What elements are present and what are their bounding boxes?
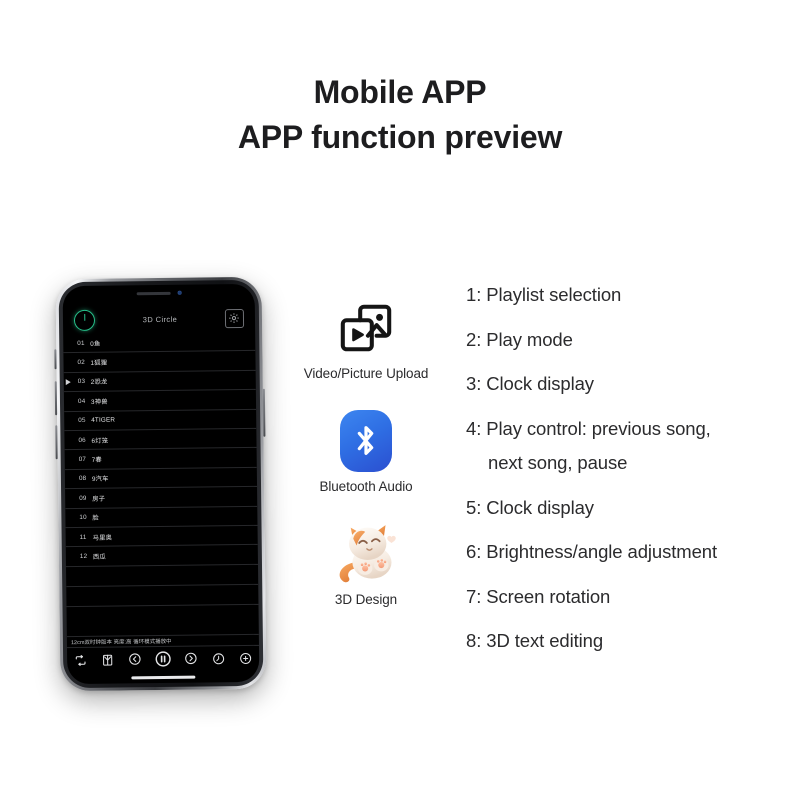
function-list-item: 7: Screen rotation [466,588,796,607]
repeat-icon[interactable] [74,653,87,666]
playlist-row-index: 03 [78,378,91,385]
function-list-item-continuation: next song, pause [466,454,796,473]
playlist-row[interactable]: 021狐狸 [63,351,255,373]
clock-icon[interactable] [212,652,225,665]
playlist-empty-row [66,565,258,588]
screen-rotate-icon[interactable] [101,653,114,666]
playlist-row-index: 05 [78,417,91,424]
playlist-row[interactable]: 11马里奥 [66,526,258,548]
playlist-row[interactable]: 12西瓜 [66,545,258,567]
playlist-row-name: 西瓜 [93,552,106,561]
phone-mute-switch[interactable] [54,349,56,369]
playlist-row-index: 10 [79,514,92,521]
playlist-row-index: 08 [79,475,92,482]
playlist-row-index: 06 [78,436,91,443]
playlist-row[interactable]: 043神兽 [64,390,256,412]
function-list-item: 4: Play control: previous song,next song… [466,420,796,473]
player-control-bar[interactable] [67,646,259,672]
function-list-item: 5: Clock display [466,499,796,518]
function-list-item: 6: Brightness/angle adjustment [466,543,796,562]
function-list-item-text: 1: Playlist selection [466,284,621,305]
playlist-row-name: 2恐龙 [91,377,108,386]
phone-mockup: 3D Circle 010鱼021狐狸032恐龙043神兽054TIGER066… [55,277,266,691]
function-list-item-text: 8: 3D text editing [466,630,603,651]
playlist-row-index: 02 [77,359,90,366]
feature-label: Bluetooth Audio [286,479,446,494]
phone-notch [63,290,255,296]
app-title: 3D Circle [143,314,178,323]
previous-icon[interactable] [128,652,142,666]
power-icon[interactable] [74,309,95,330]
title-line-1: Mobile APP [0,72,800,113]
playlist-row-name: 房子 [92,493,105,502]
app-header: 3D Circle [63,302,255,336]
playlist-row-index: 04 [78,398,91,405]
playlist-row-name: 9汽车 [92,474,109,483]
feature-video-picture-upload: Video/Picture Upload [286,292,446,381]
playlist-row-index: 11 [80,533,93,540]
function-list-item: 3: Clock display [466,375,796,394]
function-list-item-text: 3: Clock display [466,373,594,394]
playlist-row-index: 09 [79,495,92,502]
phone-volume-down-button[interactable] [55,425,57,459]
playlist-row-name: 7春 [92,455,102,464]
phone-volume-up-button[interactable] [55,381,57,415]
playlist-row-name: 马里奥 [93,532,113,541]
playlist-row-name: 6灯笼 [91,435,108,444]
bluetooth-icon [286,405,446,477]
playlist-row[interactable]: 066灯笼 [64,429,256,451]
playlist-empty-row [66,585,258,608]
feature-bluetooth-audio: Bluetooth Audio [286,405,446,494]
add-icon[interactable] [239,651,252,664]
function-list-item-text: 7: Screen rotation [466,586,610,607]
function-list-item-text: 5: Clock display [466,497,594,518]
front-camera-icon [177,291,181,295]
home-indicator [131,676,195,680]
playlist-row[interactable]: 09房子 [65,487,257,509]
feature-label: 3D Design [286,592,446,607]
pause-icon[interactable] [154,650,172,668]
playlist-row[interactable]: 054TIGER [64,409,256,431]
playlist-row-index: 07 [79,456,92,463]
function-list-item: 8: 3D text editing [466,632,796,651]
next-icon[interactable] [184,652,198,666]
function-list-item-text: 4: Play control: previous song, [466,418,711,439]
gear-icon[interactable] [225,308,244,327]
playlist-row-index: 12 [80,553,93,560]
function-list-item-text: 2: Play mode [466,329,573,350]
playlist-row[interactable]: 10脸 [65,506,257,528]
phone-screen: 3D Circle 010鱼021狐狸032恐龙043神兽054TIGER066… [63,284,260,684]
feature-list: Video/Picture Upload Bluetooth Audio [286,292,446,631]
function-list-item-text: 6: Brightness/angle adjustment [466,541,717,562]
playlist-row[interactable]: 089汽车 [65,468,257,490]
phone-power-button[interactable] [263,389,266,437]
playlist-row-name: 脸 [92,513,99,522]
video-picture-upload-icon [286,292,446,364]
playlist-row-index: 01 [77,340,90,347]
now-playing-icon [66,379,71,385]
playlist-row[interactable]: 077春 [65,448,257,470]
cat-3d-icon [286,518,446,590]
function-list: 1: Playlist selection2: Play mode3: Cloc… [466,286,796,677]
status-text: 12cm双时钟版本 亮度:高 循环模式播放中 [71,637,172,646]
playlist-row-name: 4TIGER [91,417,115,424]
function-list-item: 2: Play mode [466,331,796,350]
function-list-item: 1: Playlist selection [466,286,796,305]
earpiece-speaker-icon [136,291,170,294]
playlist-row[interactable]: 010鱼 [63,332,255,354]
playlist-row-name: 3神兽 [91,397,108,406]
page-title: Mobile APP APP function preview [0,72,800,158]
title-line-2: APP function preview [0,117,800,158]
playlist-row[interactable]: 032恐龙 [64,371,256,393]
playlist-row-name: 0鱼 [90,338,100,347]
playlist[interactable]: 010鱼021狐狸032恐龙043神兽054TIGER066灯笼077春089汽… [63,332,259,632]
feature-3d-design: 3D Design [286,518,446,607]
feature-label: Video/Picture Upload [286,366,446,381]
playlist-row-name: 1狐狸 [90,358,107,367]
